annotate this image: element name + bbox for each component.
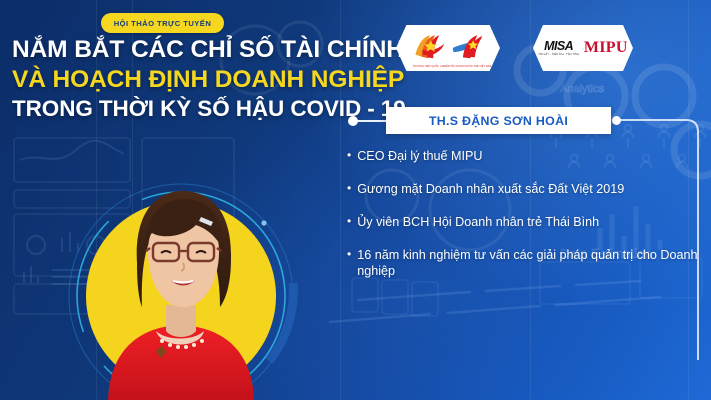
slide-title: NẮM BẮT CÁC CHỈ SỐ TÀI CHÍNH, VÀ HOẠCH Đ… bbox=[12, 36, 364, 121]
credential-text: Ủy viên BCH Hội Doanh nhân trẻ Thái Bình bbox=[357, 214, 699, 230]
misa-wordmark: MISA bbox=[544, 40, 573, 53]
star-logo-blue-glyph bbox=[451, 33, 485, 63]
bullet-marker: • bbox=[347, 181, 351, 197]
star-logo-blue-icon: HIỆP HỘI DOANH NHÂN TRẺ VIỆT NAM bbox=[451, 33, 485, 63]
misa-mipu-logo: MISA TIN CẬY - TIỆN ÍCH - TẬN TÌNH MIPU bbox=[538, 39, 627, 57]
partner-logo-badge-right: MISA TIN CẬY - TIỆN ÍCH - TẬN TÌNH MIPU bbox=[533, 25, 633, 71]
speaker-name-label: TH.S ĐẶNG SƠN HOÀI bbox=[429, 114, 568, 128]
svg-text:Analytics: Analytics bbox=[560, 83, 605, 95]
webinar-badge-label: HỘI THẢO TRỰC TUYẾN bbox=[114, 19, 212, 28]
webinar-slide: Data Estimation Analytics HỘI THẢO TRỰC … bbox=[0, 0, 711, 400]
bullet-marker: • bbox=[347, 247, 351, 263]
credential-text: 16 năm kinh nghiệm tư vấn các giải pháp … bbox=[357, 247, 699, 279]
speaker-credentials-list: • CEO Đại lý thuế MIPU • Gương mặt Doanh… bbox=[347, 148, 699, 297]
credential-text: CEO Đại lý thuế MIPU bbox=[357, 148, 699, 164]
misa-tagline: TIN CẬY - TIỆN ÍCH - TẬN TÌNH bbox=[538, 54, 579, 57]
partner-logo-badge-left: THƯƠNG HIỆU QUỐC GIA HIỆP HỘI DOANH NHÂN… bbox=[396, 25, 500, 71]
list-item: • 16 năm kinh nghiệm tư vấn các giải phá… bbox=[347, 247, 699, 279]
bullet-marker: • bbox=[347, 148, 351, 164]
bullet-marker: • bbox=[347, 214, 351, 230]
title-line-1: NẮM BẮT CÁC CHỈ SỐ TÀI CHÍNH, bbox=[12, 36, 364, 64]
star-logo-orange-glyph bbox=[412, 33, 446, 63]
title-line-3: TRONG THỜI KỲ SỐ HẬU COVID - 19 bbox=[12, 96, 364, 122]
star-logo-orange-caption: THƯƠNG HIỆU QUỐC GIA bbox=[413, 65, 445, 68]
speaker-photo bbox=[64, 155, 314, 400]
misa-logo-icon: MISA TIN CẬY - TIỆN ÍCH - TẬN TÌNH bbox=[538, 40, 579, 57]
bracket-anchor-dot bbox=[612, 116, 621, 125]
vietnam-star-logos: THƯƠNG HIỆU QUỐC GIA HIỆP HỘI DOANH NHÂN… bbox=[412, 33, 485, 63]
mipu-wordmark: MIPU bbox=[584, 39, 628, 57]
credential-text: Gương mặt Doanh nhân xuất sắc Đất Việt 2… bbox=[357, 181, 699, 197]
banner-connector-line bbox=[355, 120, 388, 122]
webinar-badge: HỘI THẢO TRỰC TUYẾN bbox=[101, 13, 224, 33]
speaker-portrait-illustration bbox=[64, 155, 314, 400]
banner-connector-dot bbox=[348, 116, 358, 126]
title-line-2: VÀ HOẠCH ĐỊNH DOANH NGHIỆP bbox=[12, 66, 364, 94]
star-logo-blue-caption: HIỆP HỘI DOANH NHÂN TRẺ VIỆT NAM bbox=[444, 65, 492, 68]
list-item: • CEO Đại lý thuế MIPU bbox=[347, 148, 699, 164]
list-item: • Ủy viên BCH Hội Doanh nhân trẻ Thái Bì… bbox=[347, 214, 699, 230]
list-item: • Gương mặt Doanh nhân xuất sắc Đất Việt… bbox=[347, 181, 699, 197]
star-logo-orange-icon: THƯƠNG HIỆU QUỐC GIA bbox=[412, 33, 446, 63]
speaker-name-banner: TH.S ĐẶNG SƠN HOÀI bbox=[386, 107, 611, 134]
